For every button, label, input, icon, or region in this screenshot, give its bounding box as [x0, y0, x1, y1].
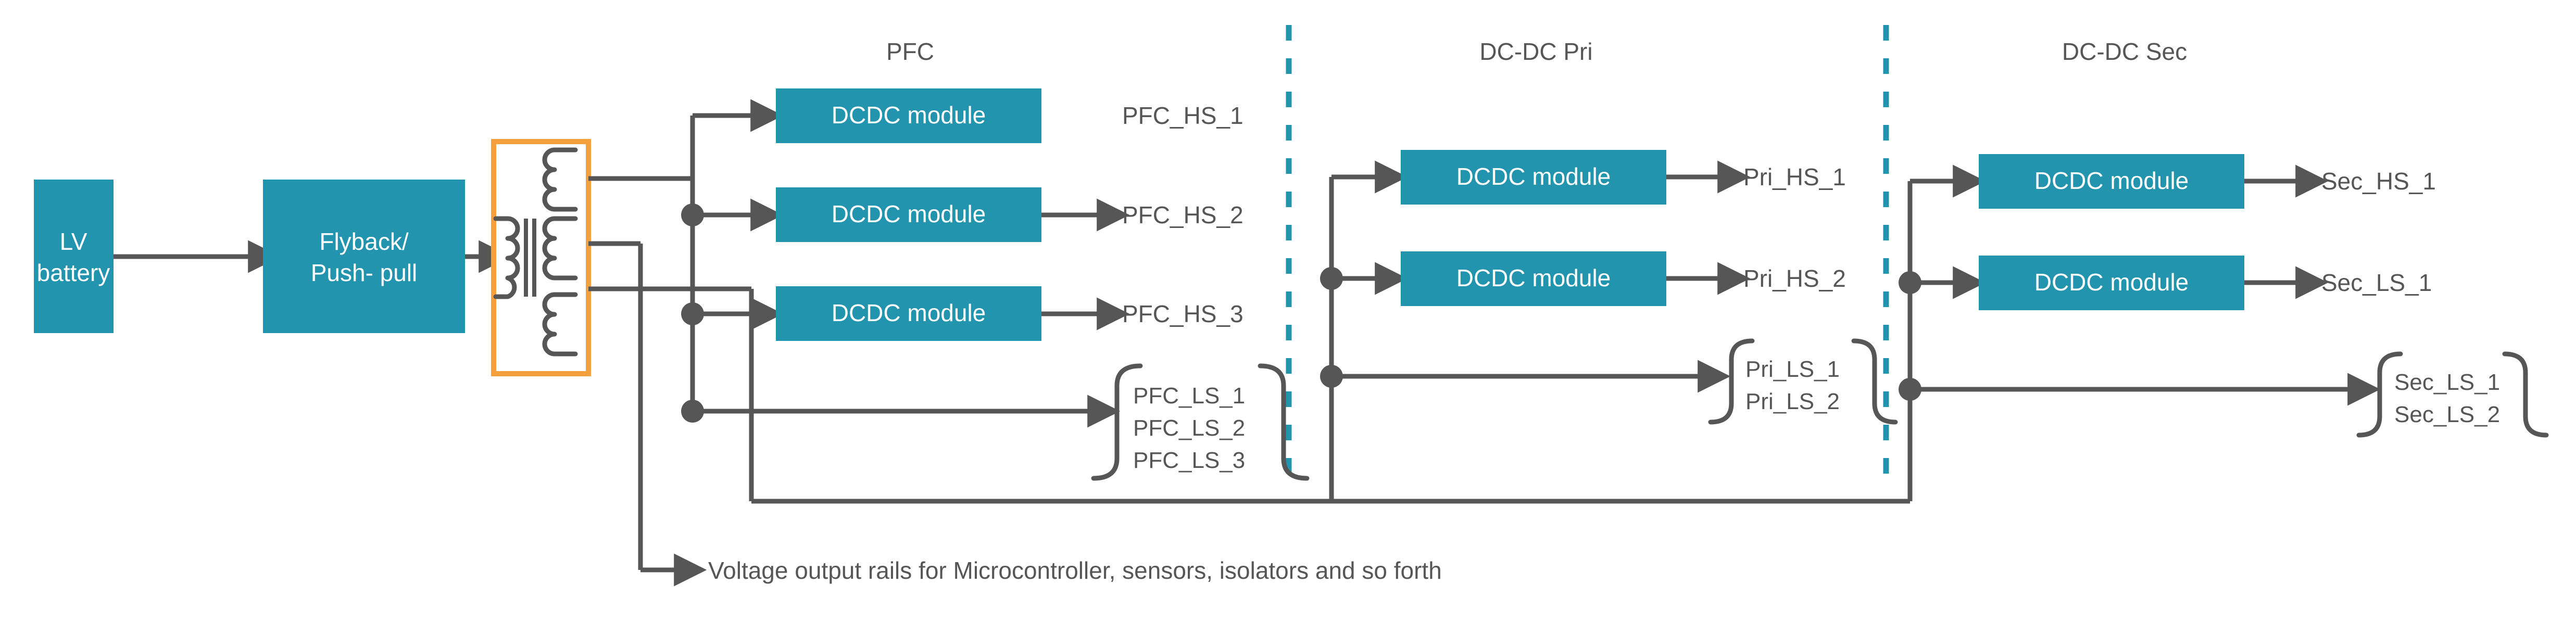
section-title-pfc: PFC [886, 38, 934, 65]
rail-sec-hs-1: Sec_HS_1 [2321, 168, 2436, 195]
pfc-junction-dot-3 [681, 302, 704, 325]
group-sec-low-side: Sec_LS_1 Sec_LS_2 [2359, 354, 2546, 435]
pfc-junction-dot-low-side [681, 400, 704, 423]
rail-pfc-ls-1: PFC_LS_1 [1133, 383, 1245, 409]
rail-pfc-ls-3: PFC_LS_3 [1133, 448, 1245, 473]
pfc-module-2-label: DCDC module [832, 200, 986, 227]
pfc-ls-bracket-right [1260, 366, 1307, 478]
sec-ls-bracket-right [2505, 354, 2546, 435]
section-title-dcdc-sec: DC-DC Sec [2062, 38, 2187, 65]
pfc-module-1-label: DCDC module [832, 101, 986, 129]
group-pfc-low-side: PFC_LS_1 PFC_LS_2 PFC_LS_3 [1094, 366, 1307, 478]
pri-junction-dot-low-side [1320, 365, 1343, 388]
sec-junction-dot-low-side [1899, 378, 1921, 401]
rail-sec-ls-1-group: Sec_LS_1 [2394, 370, 2500, 395]
rail-pri-ls-1: Pri_LS_1 [1745, 357, 1840, 382]
flyback-label-line2: Push- pull [311, 259, 418, 286]
pri-junction-dot-2 [1320, 267, 1343, 290]
rail-pfc-hs-2: PFC_HS_2 [1122, 201, 1243, 228]
sec-junction-dot-2 [1899, 271, 1921, 294]
rail-pfc-ls-2: PFC_LS_2 [1133, 415, 1245, 441]
power-block-diagram: PFC DC-DC Pri DC-DC Sec LV battery Flyba… [0, 0, 2576, 623]
sec-module-2-label: DCDC module [2034, 269, 2189, 296]
pfc-junction-dot-2 [681, 204, 704, 226]
rail-pfc-hs-3: PFC_HS_3 [1122, 300, 1243, 327]
rail-pri-hs-2: Pri_HS_2 [1743, 265, 1846, 292]
lv-battery-label-line1: LV [60, 228, 87, 255]
pri-module-1-label: DCDC module [1456, 163, 1611, 190]
lv-battery-label-line2: battery [37, 259, 110, 286]
rail-sec-ls-1: Sec_LS_1 [2321, 269, 2432, 296]
rail-pri-ls-2: Pri_LS_2 [1745, 389, 1840, 414]
isolation-transformer[interactable] [494, 142, 588, 374]
rail-pfc-hs-1: PFC_HS_1 [1122, 102, 1243, 129]
pri-ls-bracket-right [1854, 341, 1895, 422]
pfc-module-3-label: DCDC module [832, 299, 986, 326]
footer-note-text: Voltage output rails for Microcontroller… [708, 557, 1442, 584]
rail-pri-hs-1: Pri_HS_1 [1743, 163, 1846, 190]
block-flyback-pushpull[interactable] [263, 180, 465, 333]
group-pri-low-side: Pri_LS_1 Pri_LS_2 [1711, 341, 1895, 422]
diagram-canvas: PFC DC-DC Pri DC-DC Sec LV battery Flyba… [0, 0, 2576, 623]
pri-module-2-label: DCDC module [1456, 264, 1611, 291]
flyback-label-line1: Flyback/ [319, 228, 408, 255]
section-title-dcdc-pri: DC-DC Pri [1479, 38, 1592, 65]
sec-module-1-label: DCDC module [2034, 167, 2189, 194]
block-lv-battery[interactable] [34, 180, 114, 333]
rail-sec-ls-2-group: Sec_LS_2 [2394, 402, 2500, 427]
